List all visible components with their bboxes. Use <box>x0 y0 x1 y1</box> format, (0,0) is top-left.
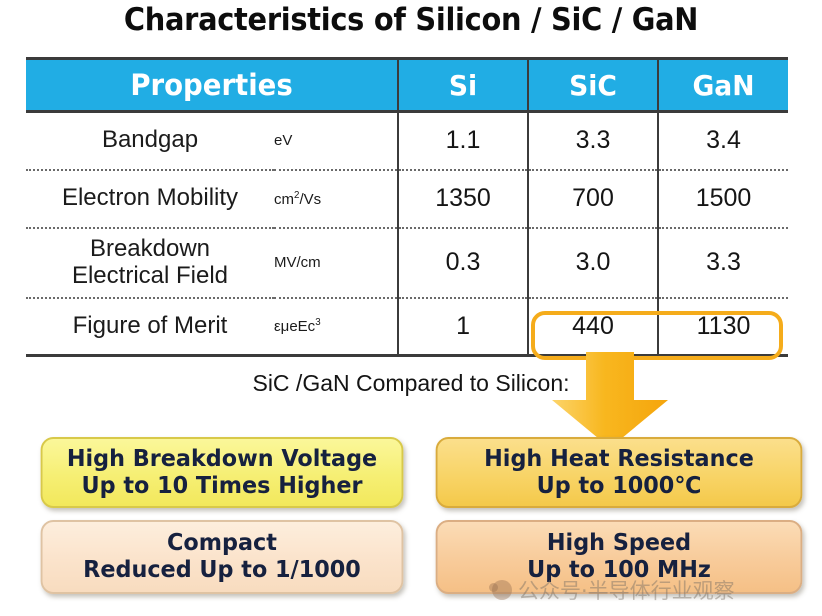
unit-base: cm <box>274 191 294 208</box>
benefit-box-high-speed[interactable]: High Speed Up to 100 MHz <box>436 520 803 594</box>
benefit-box-high-heat-resistance[interactable]: High Heat Resistance Up to 1000℃ <box>436 437 803 508</box>
benefit-line1: High Speed <box>547 530 691 557</box>
cell-breakdown-gan: 3.3 <box>658 228 788 298</box>
unit-tail: /Vs <box>299 191 321 208</box>
table-header-row: Properties Si SiC GaN <box>26 59 788 112</box>
table-row: Electron Mobility cm2/Vs 1350 700 1500 <box>26 170 788 228</box>
cell-bandgap-si: 1.1 <box>398 112 528 170</box>
cell-breakdown-si: 0.3 <box>398 228 528 298</box>
row-label-electron-mobility: Electron Mobility <box>26 170 274 228</box>
characteristics-table: Properties Si SiC GaN Bandgap eV 1.1 3.3… <box>26 57 788 357</box>
column-header-gan: GaN <box>661 59 785 112</box>
benefit-line2: Up to 1000℃ <box>537 473 702 500</box>
row-label-bandgap: Bandgap <box>26 112 274 170</box>
row-unit-bandgap: eV <box>274 112 398 170</box>
cell-bandgap-sic: 3.3 <box>528 112 658 170</box>
table-row: Figure of Merit εμeEc3 1 440 1130 <box>26 298 788 356</box>
cell-fom-sic: 440 <box>528 298 658 356</box>
cell-electron-mobility-sic: 700 <box>528 170 658 228</box>
row-label-line1: Breakdown <box>90 235 210 262</box>
unit-base: εμeEc <box>274 318 315 335</box>
comparison-caption: SiC /GaN Compared to Silicon: <box>0 370 822 397</box>
cell-breakdown-sic: 3.0 <box>528 228 658 298</box>
cell-electron-mobility-si: 1350 <box>398 170 528 228</box>
column-header-sic: SiC <box>531 59 655 112</box>
benefit-line2: Up to 10 Times Higher <box>81 473 362 500</box>
benefit-line1: High Heat Resistance <box>484 446 754 473</box>
unit-superscript: 3 <box>315 317 320 328</box>
benefit-line2: Up to 100 MHz <box>527 557 711 584</box>
benefit-line1: High Breakdown Voltage <box>67 446 377 473</box>
row-unit-figure-of-merit: εμeEc3 <box>274 298 398 356</box>
benefit-line2: Reduced Up to 1/1000 <box>83 557 361 584</box>
row-label-figure-of-merit: Figure of Merit <box>26 298 274 356</box>
row-label-breakdown-electrical-field: BreakdownElectrical Field <box>26 228 274 298</box>
benefit-box-high-breakdown-voltage[interactable]: High Breakdown Voltage Up to 10 Times Hi… <box>41 437 404 508</box>
row-unit-electron-mobility: cm2/Vs <box>274 170 398 228</box>
page-title: Characteristics of Silicon / SiC / GaN <box>29 2 793 38</box>
cell-bandgap-gan: 3.4 <box>658 112 788 170</box>
table-row: BreakdownElectrical Field MV/cm 0.3 3.0 … <box>26 228 788 298</box>
row-unit-breakdown-electrical-field: MV/cm <box>274 228 398 298</box>
table-row: Bandgap eV 1.1 3.3 3.4 <box>26 112 788 170</box>
row-label-line2: Electrical Field <box>72 262 228 289</box>
cell-fom-gan: 1130 <box>658 298 788 356</box>
cell-electron-mobility-gan: 1500 <box>658 170 788 228</box>
down-arrow-icon <box>552 352 668 448</box>
benefit-box-compact[interactable]: Compact Reduced Up to 1/1000 <box>41 520 404 594</box>
cell-fom-si: 1 <box>398 298 528 356</box>
column-header-si: Si <box>401 59 525 112</box>
column-header-properties: Properties <box>35 59 388 112</box>
benefit-line1: Compact <box>167 530 277 557</box>
